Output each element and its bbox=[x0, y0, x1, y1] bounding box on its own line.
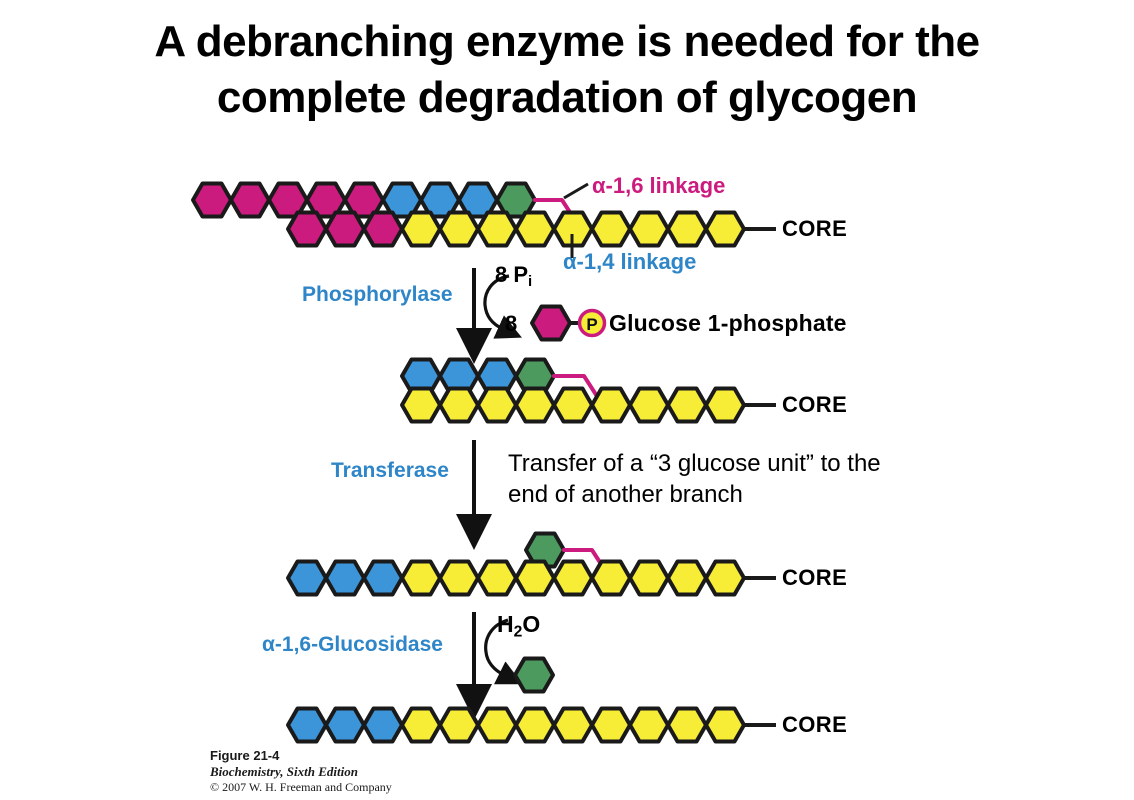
glucose-hex-blue bbox=[440, 360, 478, 393]
core-label-stage-2: CORE bbox=[782, 392, 847, 418]
glucose-hex-yellow bbox=[516, 709, 554, 742]
glucose-hex-yellow bbox=[554, 709, 592, 742]
glucose-hex-yellow bbox=[630, 213, 668, 246]
glucose-hex-magenta bbox=[288, 213, 326, 246]
core-label-stage-4: CORE bbox=[782, 712, 847, 738]
stage-2-lower-chain bbox=[402, 389, 744, 422]
glucose-hex-magenta bbox=[364, 213, 402, 246]
glucose-hex-yellow bbox=[478, 562, 516, 595]
glucose-hex-yellow bbox=[402, 709, 440, 742]
copyright-notice: © 2007 W. H. Freeman and Company bbox=[210, 780, 392, 795]
glucose-1-phosphate-token: P bbox=[532, 307, 605, 340]
phosphate-circle bbox=[580, 311, 605, 336]
glucose-hex-green-branchpoint bbox=[497, 184, 535, 217]
glucose-hex-blue bbox=[364, 562, 402, 595]
stage-3-upper-chain bbox=[526, 534, 564, 567]
glucose-hex-yellow bbox=[440, 389, 478, 422]
page-title: A debranching enzyme is needed for the c… bbox=[0, 14, 1134, 126]
alpha-1-6-linkage-bond bbox=[554, 376, 602, 404]
glucose-hex-blue bbox=[288, 709, 326, 742]
glucose-hex-yellow bbox=[440, 213, 478, 246]
phosphate-input-label: 8 Pi bbox=[495, 262, 532, 290]
glucose-hex-blue bbox=[288, 562, 326, 595]
figure-credit: Figure 21-4 Biochemistry, Sixth Edition … bbox=[210, 748, 392, 795]
stage-1-upper-chain bbox=[193, 184, 535, 217]
glucose-hex-yellow bbox=[706, 213, 744, 246]
glucose-hex-yellow bbox=[668, 562, 706, 595]
core-label-stage-3: CORE bbox=[782, 565, 847, 591]
stage-4-after-glucosidase bbox=[288, 709, 776, 742]
glucose-hex-yellow bbox=[478, 709, 516, 742]
glucose-hex-yellow bbox=[516, 213, 554, 246]
water-o: O bbox=[522, 611, 540, 637]
water-input-label: H2O bbox=[497, 611, 540, 641]
glucose-hex-yellow bbox=[554, 213, 592, 246]
glucose-hex-yellow bbox=[402, 389, 440, 422]
glucose-hex-magenta bbox=[345, 184, 383, 217]
glucose-hex-yellow bbox=[554, 389, 592, 422]
glucose-hex-yellow bbox=[516, 562, 554, 595]
alpha-1-6-leader-line bbox=[564, 184, 588, 198]
glucose-hex-magenta bbox=[307, 184, 345, 217]
transfer-description-note: Transfer of a “3 glucose unit” to the en… bbox=[508, 448, 888, 510]
glucose-hex-yellow bbox=[592, 213, 630, 246]
alpha-1-6-linkage-label: α-1,6 linkage bbox=[592, 173, 725, 199]
glucose-hex-yellow bbox=[706, 389, 744, 422]
glucose-hex-yellow bbox=[706, 709, 744, 742]
glucose-hex-magenta bbox=[532, 307, 570, 340]
phosphate-letter: P bbox=[586, 315, 597, 334]
glucose-count-label: 8 bbox=[505, 311, 517, 337]
phosphate-input-text: 8 P bbox=[495, 262, 528, 287]
glucose-hex-yellow bbox=[516, 389, 554, 422]
glucose-hex-blue bbox=[421, 184, 459, 217]
glucose-1-phosphate-label: Glucose 1-phosphate bbox=[609, 310, 847, 337]
glucose-hex-yellow bbox=[478, 213, 516, 246]
alpha-1-6-linkage-bond bbox=[564, 550, 610, 578]
glucose-hex-yellow bbox=[630, 389, 668, 422]
water-h: H bbox=[497, 611, 514, 637]
glucose-hex-yellow bbox=[554, 562, 592, 595]
alpha-1-4-linkage-label: α-1,4 linkage bbox=[563, 249, 696, 275]
glucose-hex-blue bbox=[326, 709, 364, 742]
stage-2-upper-chain bbox=[402, 360, 554, 393]
glucose-hex-blue bbox=[459, 184, 497, 217]
stage-2-after-phosphorylase bbox=[402, 360, 776, 422]
glucose-hex-magenta bbox=[326, 213, 364, 246]
glucose-hex-yellow bbox=[630, 562, 668, 595]
glucose-hex-yellow bbox=[478, 389, 516, 422]
glucose-hex-yellow bbox=[668, 709, 706, 742]
glucose-hex-yellow bbox=[668, 389, 706, 422]
glucose-hex-yellow bbox=[592, 709, 630, 742]
glucose-hex-blue bbox=[364, 709, 402, 742]
stage-3-main-chain bbox=[288, 562, 744, 595]
glucose-hex-yellow bbox=[402, 213, 440, 246]
enzyme-label-glucosidase: α-1,6-Glucosidase bbox=[262, 633, 443, 657]
page-title-line-1: A debranching enzyme is needed for the bbox=[0, 14, 1134, 70]
glucose-hex-blue bbox=[402, 360, 440, 393]
glucose-hex-magenta bbox=[269, 184, 307, 217]
glucose-hex-yellow bbox=[440, 709, 478, 742]
phosphate-input-subscript: i bbox=[528, 273, 532, 290]
figure-number: Figure 21-4 bbox=[210, 748, 392, 764]
glucose-hex-green-branchpoint bbox=[526, 534, 564, 567]
glucose-hex-yellow bbox=[440, 562, 478, 595]
enzyme-label-transferase: Transferase bbox=[331, 459, 449, 483]
page-title-line-2: complete degradation of glycogen bbox=[0, 70, 1134, 126]
glucose-hex-yellow bbox=[668, 213, 706, 246]
stage-1-lower-chain bbox=[288, 213, 744, 246]
glucose-hex-yellow bbox=[630, 709, 668, 742]
stage-3-after-transferase bbox=[288, 534, 776, 595]
glucose-hex-blue bbox=[478, 360, 516, 393]
book-title: Biochemistry, Sixth Edition bbox=[210, 764, 392, 780]
free-glucose-product bbox=[515, 659, 553, 692]
stage-4-main-chain bbox=[288, 709, 744, 742]
glucose-hex-magenta bbox=[231, 184, 269, 217]
glucose-hex-magenta bbox=[193, 184, 231, 217]
glucose-hex-yellow bbox=[592, 389, 630, 422]
glucose-hex-blue bbox=[326, 562, 364, 595]
glucose-hex-yellow bbox=[706, 562, 744, 595]
glucose-hex-yellow bbox=[592, 562, 630, 595]
core-label-stage-1: CORE bbox=[782, 216, 847, 242]
glucose-hex-yellow bbox=[402, 562, 440, 595]
glucose-hex-green-free bbox=[515, 659, 553, 692]
enzyme-label-phosphorylase: Phosphorylase bbox=[302, 283, 453, 307]
glucose-hex-blue bbox=[383, 184, 421, 217]
glucose-hex-green-branchpoint bbox=[516, 360, 554, 393]
alpha-1-6-linkage-bond bbox=[535, 200, 580, 228]
